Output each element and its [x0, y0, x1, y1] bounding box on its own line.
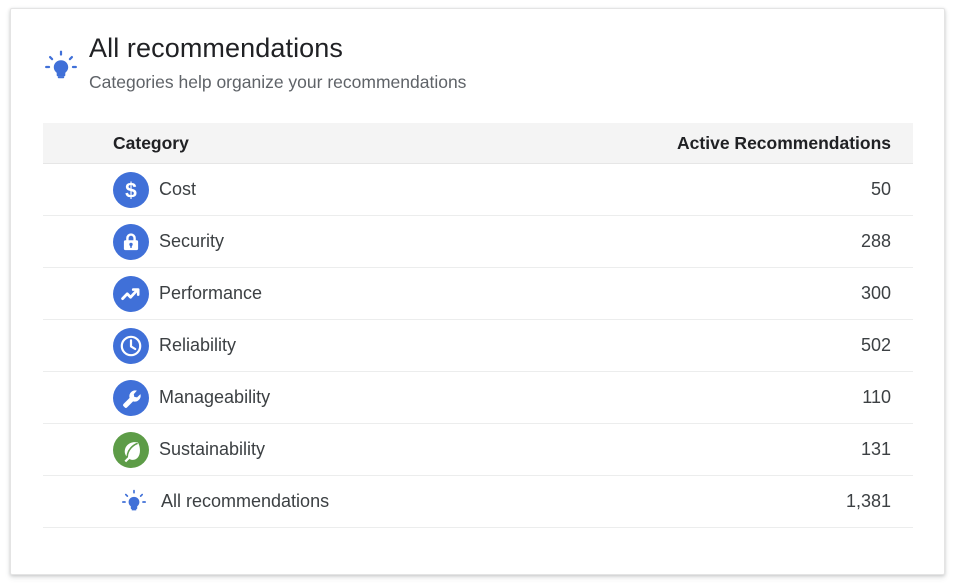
column-header-category: Category [43, 133, 677, 154]
row-value: 300 [861, 283, 913, 304]
row-category-cell: Reliability [43, 328, 861, 364]
row-category-cell: All recommendations [43, 487, 846, 517]
table-header-row: Category Active Recommendations [43, 123, 913, 164]
row-value: 110 [862, 387, 913, 408]
svg-text:$: $ [125, 179, 137, 202]
table-row[interactable]: All recommendations 1,381 [43, 476, 913, 528]
row-category-cell: Security [43, 224, 861, 260]
lightbulb-icon [41, 47, 81, 87]
dollar-sign-icon: $ [113, 172, 149, 208]
column-header-active-recommendations: Active Recommendations [677, 133, 913, 154]
row-category-cell: Manageability [43, 380, 862, 416]
table-row[interactable]: Security 288 [43, 216, 913, 268]
leaf-icon [113, 432, 149, 468]
row-category-cell: Performance [43, 276, 861, 312]
card-subtitle: Categories help organize your recommenda… [89, 71, 924, 93]
row-label: All recommendations [161, 491, 329, 512]
row-label: Sustainability [159, 439, 265, 460]
row-value: 50 [871, 179, 913, 200]
card-header-text: All recommendations Categories help orga… [89, 31, 924, 93]
row-label: Cost [159, 179, 196, 200]
row-label: Reliability [159, 335, 236, 356]
row-value: 288 [861, 231, 913, 252]
table-row[interactable]: $ Cost 50 [43, 164, 913, 216]
row-value: 502 [861, 335, 913, 356]
row-category-cell: Sustainability [43, 432, 861, 468]
row-label: Security [159, 231, 224, 252]
table-row[interactable]: Performance 300 [43, 268, 913, 320]
clock-icon [113, 328, 149, 364]
row-category-cell: $ Cost [43, 172, 871, 208]
table-row[interactable]: Reliability 502 [43, 320, 913, 372]
wrench-icon [113, 380, 149, 416]
lock-icon [113, 224, 149, 260]
recommendations-card: All recommendations Categories help orga… [10, 8, 945, 575]
card-header: All recommendations Categories help orga… [11, 9, 944, 117]
recommendations-table: Category Active Recommendations $ Cost 5… [43, 123, 913, 528]
table-row[interactable]: Manageability 110 [43, 372, 913, 424]
lightbulb-icon [119, 487, 149, 517]
row-label: Performance [159, 283, 262, 304]
row-value: 131 [861, 439, 913, 460]
trending-up-icon [113, 276, 149, 312]
table-row[interactable]: Sustainability 131 [43, 424, 913, 476]
row-value: 1,381 [846, 491, 913, 512]
row-label: Manageability [159, 387, 270, 408]
page-title: All recommendations [89, 31, 924, 65]
